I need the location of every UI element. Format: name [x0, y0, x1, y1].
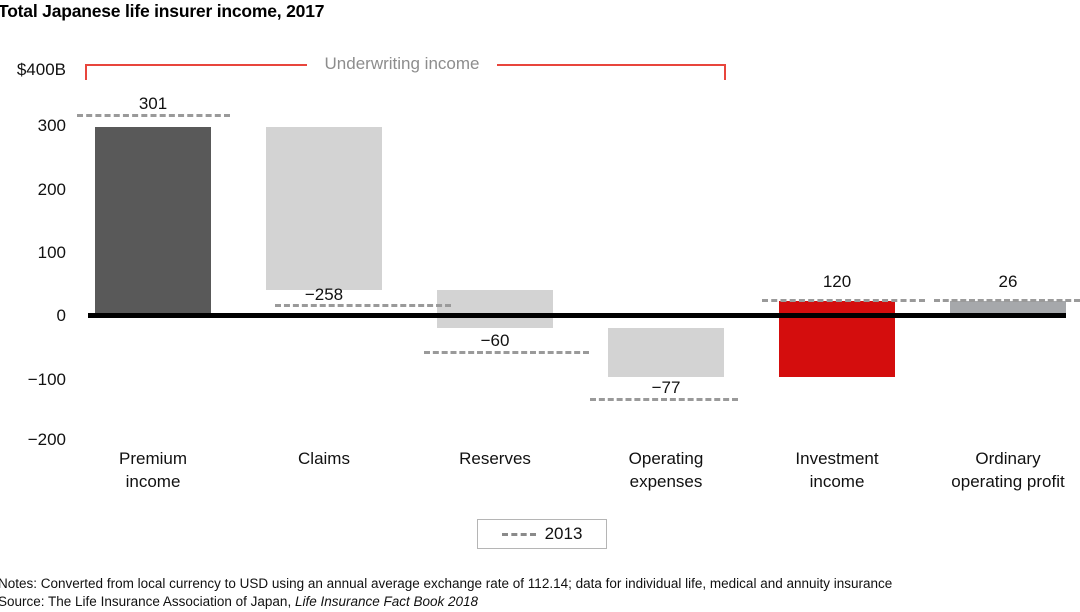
y-tick-300: 300	[0, 116, 66, 136]
y-tick-200: 200	[0, 180, 66, 200]
notes-line: Notes: Converted from local currency to …	[0, 576, 892, 591]
category-line-1: Reserves	[405, 447, 585, 470]
category-line-1: Premium	[63, 447, 243, 470]
category-line-2: operating profit	[918, 470, 1080, 493]
value-label-operating-expenses: −77	[626, 378, 706, 398]
category-label-reserves: Reserves	[405, 447, 585, 470]
bar-premium-income[interactable]	[95, 127, 211, 315]
bar-claims[interactable]	[266, 127, 382, 290]
y-tick-m200: −200	[0, 430, 66, 450]
category-line-1: Claims	[234, 447, 414, 470]
value-label-ordinary-operating-profit: 26	[968, 272, 1048, 292]
value-label-reserves: −60	[455, 331, 535, 351]
value-label-premium-income: 301	[113, 94, 193, 114]
y-tick-100: 100	[0, 243, 66, 263]
y-tick-m100: −100	[0, 370, 66, 390]
notes-text: Converted from local currency to USD usi…	[37, 576, 892, 591]
value-label-investment-income: 120	[797, 272, 877, 292]
ref-2013-operating-expenses	[590, 398, 738, 401]
notes-label: Notes:	[0, 576, 37, 591]
category-label-operating-expenses: Operating expenses	[576, 447, 756, 493]
y-tick-0: 0	[0, 306, 66, 326]
category-line-2: income	[747, 470, 927, 493]
ref-2013-premium-income	[77, 114, 230, 117]
bar-reserves[interactable]	[437, 290, 553, 328]
category-label-investment-income: Investment income	[747, 447, 927, 493]
category-line-2: income	[63, 470, 243, 493]
category-line-2: expenses	[576, 470, 756, 493]
ref-2013-investment-income	[762, 299, 925, 302]
bar-operating-expenses[interactable]	[608, 328, 724, 377]
source-label: Source:	[0, 594, 45, 609]
zero-axis-line	[88, 313, 1066, 318]
source-publication-title: Life Insurance Fact Book 2018	[295, 594, 478, 609]
category-label-ordinary-operating-profit: Ordinary operating profit	[918, 447, 1080, 493]
category-label-claims: Claims	[234, 447, 414, 470]
ref-2013-ordinary-operating-profit	[934, 299, 1080, 302]
legend-label-2013: 2013	[545, 524, 583, 544]
value-label-claims: −258	[284, 285, 364, 305]
source-text: The Life Insurance Association of Japan,	[45, 594, 295, 609]
category-label-premium-income: Premium income	[63, 447, 243, 493]
legend-dashed-line-swatch	[502, 533, 536, 536]
legend[interactable]: 2013	[477, 519, 607, 549]
category-line-1: Ordinary	[918, 447, 1080, 470]
category-line-1: Investment	[747, 447, 927, 470]
category-line-1: Operating	[576, 447, 756, 470]
y-tick-400: $400B	[0, 60, 66, 80]
source-line: Source: The Life Insurance Association o…	[0, 594, 478, 609]
waterfall-chart: Total Japanese life insurer income, 2017…	[0, 0, 1080, 612]
ref-2013-reserves	[424, 351, 589, 354]
